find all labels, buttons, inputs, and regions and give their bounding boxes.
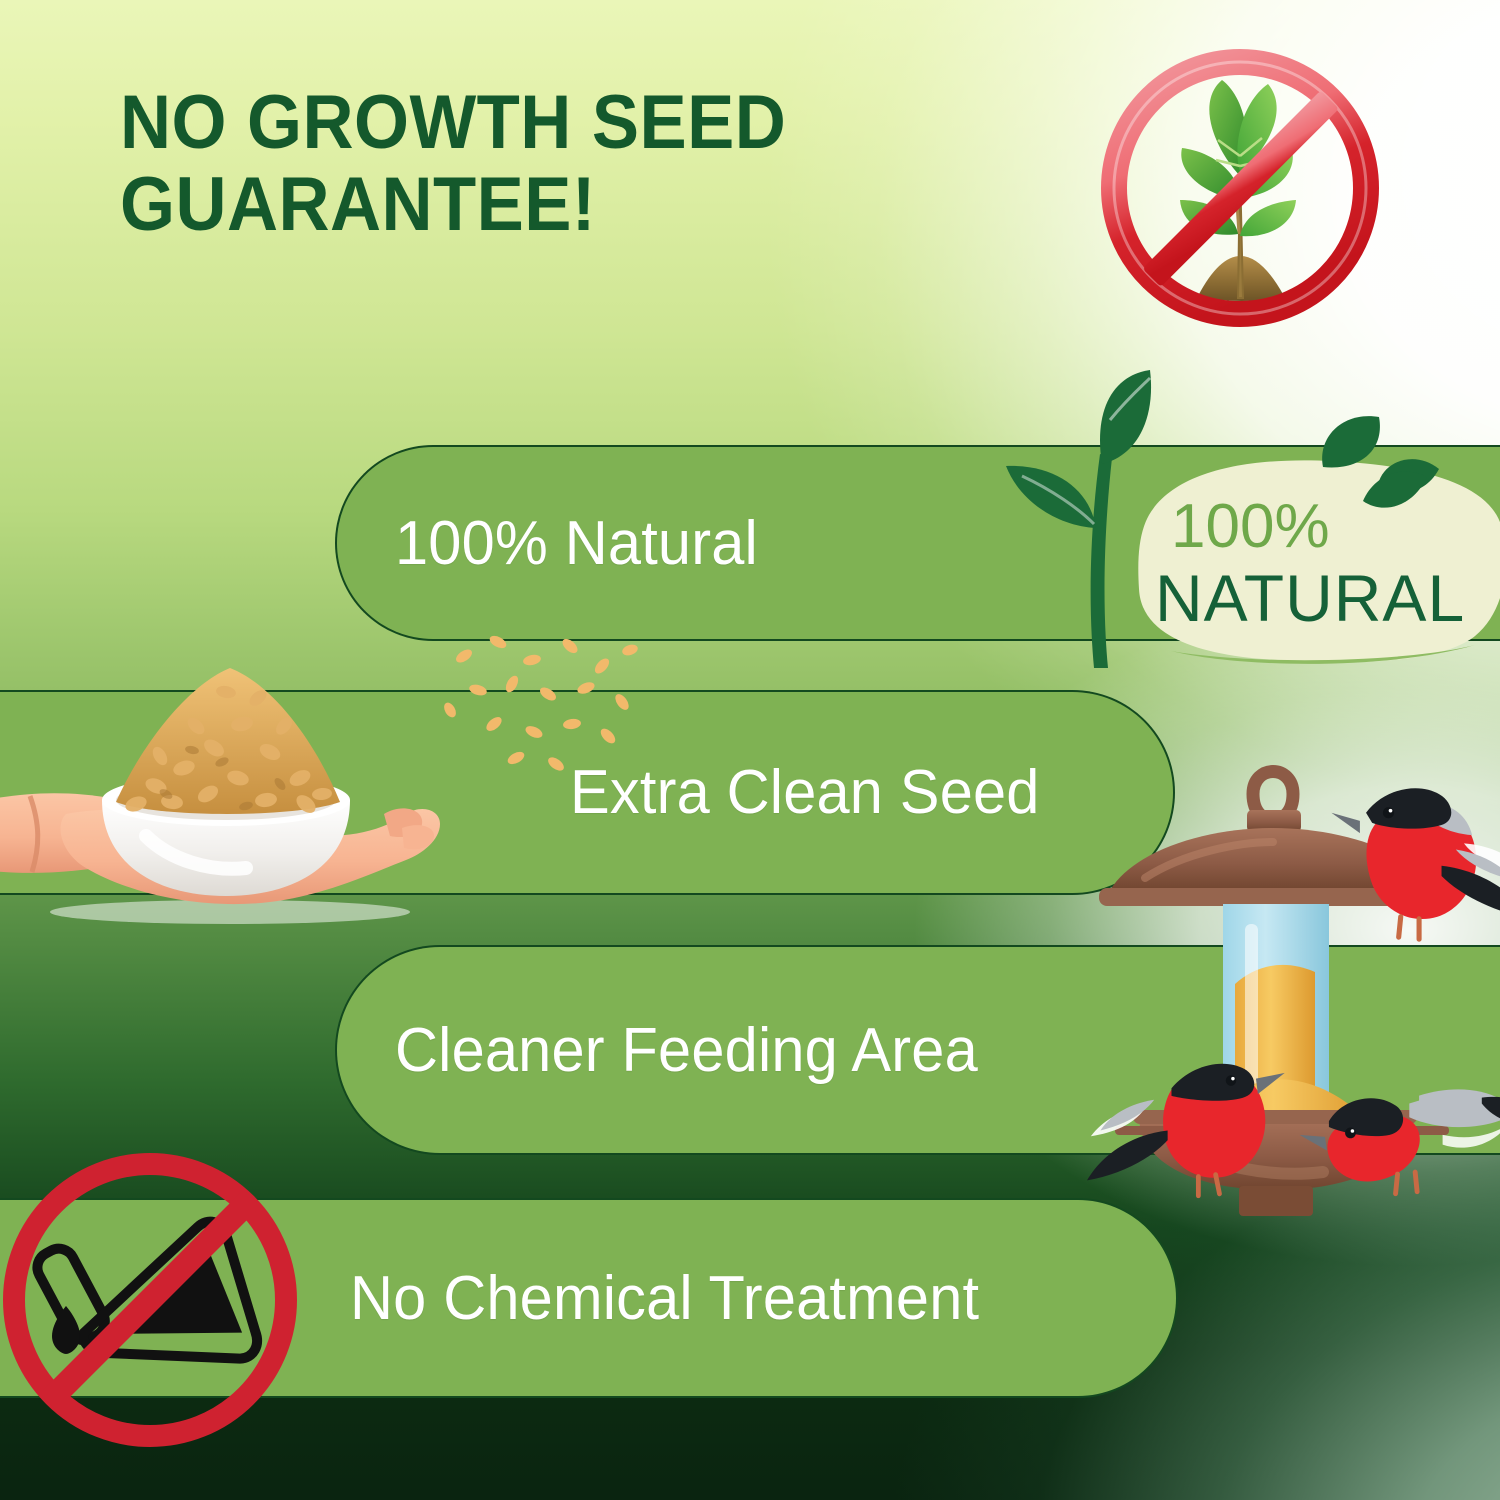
falling-seeds-icon (440, 632, 640, 772)
feature-label-feeding-area: Cleaner Feeding Area (395, 1015, 978, 1086)
bird-feeder-with-bullfinches-icon (1075, 728, 1495, 1218)
product-infographic-poster: NO GROWTH SEED GUARANTEE! 100% Natural E… (0, 0, 1500, 1500)
feature-label-natural: 100% Natural (395, 508, 758, 579)
no-chemical-treatment-icon (0, 1140, 310, 1460)
page-title: NO GROWTH SEED GUARANTEE! (120, 82, 976, 246)
badge-line1: 100% (1171, 492, 1330, 561)
feature-label-no-chemical: No Chemical Treatment (350, 1263, 979, 1334)
badge-line2: NATURAL (1155, 561, 1465, 635)
feature-label-clean-seed: Extra Clean Seed (570, 757, 1040, 828)
no-growth-plant-icon (1090, 48, 1390, 328)
badge-100-percent-natural: 100% NATURAL (1135, 455, 1500, 670)
